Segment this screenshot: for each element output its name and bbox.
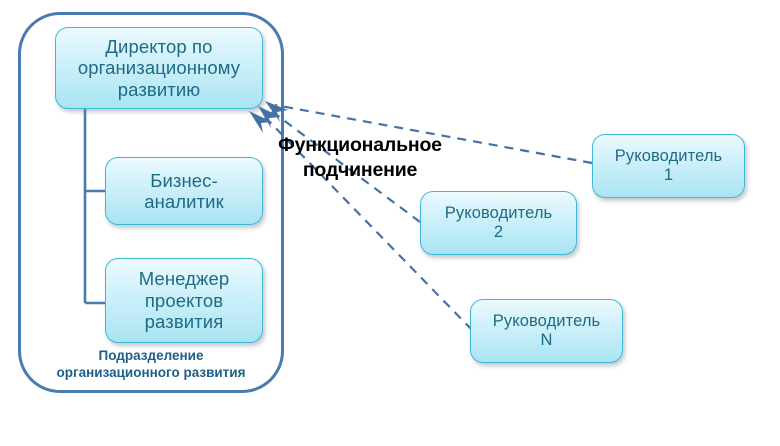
node-business-analyst-line2: аналитик: [138, 191, 230, 212]
department-caption-line2: организационного развития: [18, 365, 284, 382]
node-director-line2: организационному: [72, 57, 246, 78]
node-project-manager-line2: проектов: [133, 290, 236, 311]
node-head-2-line1: Руководитель: [439, 204, 559, 223]
node-head-1[interactable]: Руководитель1: [592, 134, 745, 198]
diagram-canvas: Директор поорганизационномуразвитию Бизн…: [0, 0, 780, 446]
node-project-manager-line3: развития: [133, 311, 236, 332]
node-head-1-text: Руководитель1: [603, 147, 735, 185]
node-head-n-text: РуководительN: [481, 312, 613, 350]
node-director[interactable]: Директор поорганизационномуразвитию: [55, 27, 263, 109]
node-head-2-line2: 2: [439, 223, 559, 242]
department-caption: Подразделение организационного развития: [18, 348, 284, 382]
department-caption-line1: Подразделение: [18, 348, 284, 365]
functional-subordination-label: Функциональное подчинение: [252, 133, 468, 183]
node-head-n[interactable]: РуководительN: [470, 299, 623, 363]
node-head-1-line2: 1: [609, 166, 729, 185]
node-business-analyst[interactable]: Бизнес-аналитик: [105, 157, 263, 225]
node-project-manager-line1: Менеджер: [133, 268, 236, 289]
node-project-manager[interactable]: Менеджерпроектовразвития: [105, 258, 263, 343]
node-project-manager-text: Менеджерпроектовразвития: [127, 268, 242, 332]
node-head-1-line1: Руководитель: [609, 147, 729, 166]
node-head-n-line2: N: [487, 331, 607, 350]
node-head-2[interactable]: Руководитель2: [420, 191, 577, 255]
node-head-n-line1: Руководитель: [487, 312, 607, 331]
node-business-analyst-text: Бизнес-аналитик: [132, 170, 236, 213]
node-head-2-text: Руководитель2: [433, 204, 565, 242]
node-director-line3: развитию: [72, 79, 246, 100]
node-business-analyst-line1: Бизнес-: [138, 170, 230, 191]
node-director-text: Директор поорганизационномуразвитию: [66, 36, 252, 100]
node-director-line1: Директор по: [72, 36, 246, 57]
